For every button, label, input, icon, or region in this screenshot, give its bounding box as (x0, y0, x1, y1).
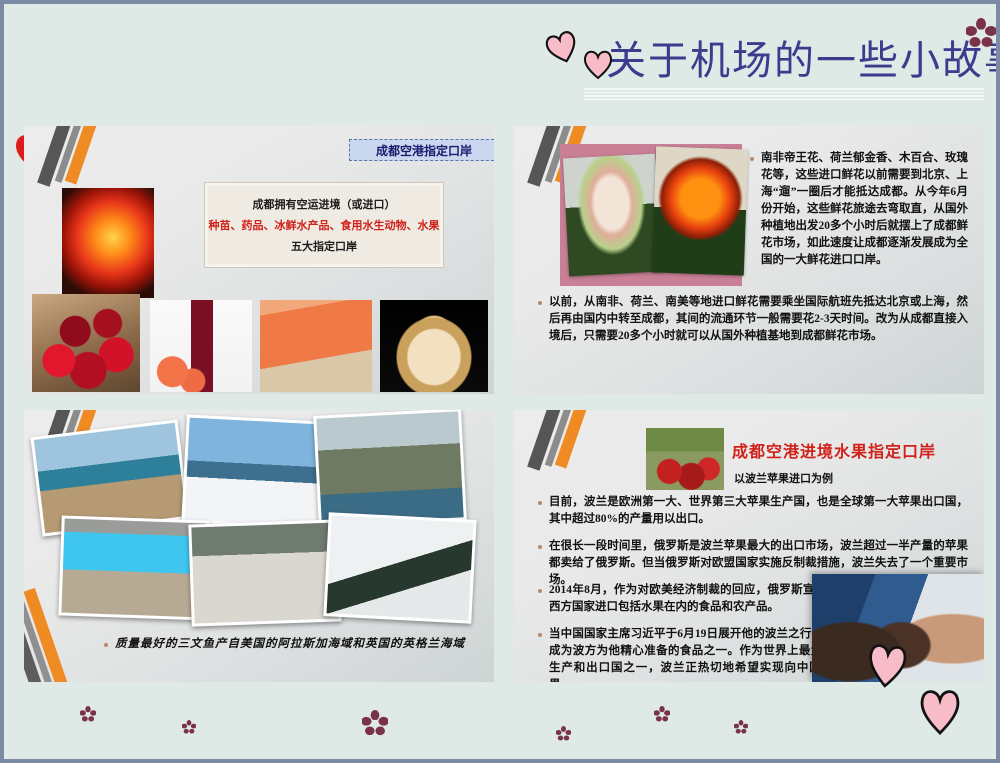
panel-salmon-origin-photos: 质量最好的三文鱼产自美国的阿拉斯加海域和英国的英格兰海域 (24, 410, 494, 682)
protea-flower-photo (563, 154, 661, 277)
bullet-text: 以前，从南非、荷兰、南美等地进口鲜花需要乘坐国际航班先抵达北京或上海，然后再由国… (549, 294, 968, 345)
bullet-dot-icon (538, 633, 542, 637)
callout-line-3: 五大指定口岸 (291, 238, 357, 254)
certificate-plaque-photo (58, 515, 209, 620)
section-heading: 成都空港进境水果指定口岸 (732, 438, 936, 462)
heart-outline-bottom-b (918, 686, 962, 736)
slide-title-block: 关于机场的一些小故事 (564, 26, 994, 106)
bullet-item: 当中国国家主席习近平于6月19日展开他的波兰之行时，苹果成为波方为他精心准备的食… (538, 626, 858, 682)
callout-line-2: 种苗、药品、冰鲜水产品、食用水生动物、水果 (209, 217, 440, 233)
bullet-dot-icon (538, 545, 542, 549)
flower-bottom-1-icon (80, 706, 96, 727)
bullet-dot-icon (538, 301, 542, 305)
bullet-item: 南非帝王花、荷兰郁金香、木百合、玫瑰花等，这些进口鲜花以前需要到北京、上海“遛”… (750, 150, 968, 269)
packed-salmon-box-photo (323, 512, 476, 624)
flower-bottom-4-icon (556, 726, 571, 746)
flower-bottom-3-icon (362, 710, 388, 741)
apple-harvest-photo (646, 428, 724, 490)
bullet-dot-icon (104, 643, 108, 647)
photo-caption: 质量最好的三文鱼产自美国的阿拉斯加海域和英国的英格兰海域 (104, 636, 494, 653)
cherries-photo (32, 294, 140, 392)
panel-fruit-designated-port: 成都空港进境水果指定口岸 以波兰苹果进口为例 目前，波兰是欧洲第一大、世界第三大… (514, 410, 984, 682)
red-dahlia-flower-photo (62, 188, 154, 298)
juice-bottle-grapefruit-photo (150, 300, 252, 392)
bullet-dot-icon (538, 501, 542, 505)
shrimp-plate-photo (380, 300, 488, 392)
iceberg-lake-photo (181, 414, 326, 529)
orange-pincushion-flower-photo (652, 146, 748, 275)
flower-bottom-2-icon (182, 720, 196, 739)
flower-top-right-icon (966, 18, 996, 48)
bullet-text: 南非帝王花、荷兰郁金香、木百合、玫瑰花等，这些进口鲜花以前需要到北京、上海“遛”… (761, 150, 968, 269)
flower-bottom-5-icon (654, 706, 670, 727)
seabirds-cliff-photo (313, 410, 467, 528)
tag-chengdu-airport-port: 成都空港指定口岸 (349, 139, 494, 161)
heart-outline-bottom-a (864, 640, 911, 690)
bullet-item: 目前，波兰是欧洲第一大、世界第三大苹果生产国，也是全球第一大苹果出口国，其中超过… (538, 494, 968, 528)
bullet-item: 以前，从南非、荷兰、南美等地进口鲜花需要乘坐国际航班先抵达北京或上海，然后再由国… (538, 294, 968, 345)
page-title: 关于机场的一些小故事 (606, 28, 1000, 86)
bullet-text: 目前，波兰是欧洲第一大、世界第三大苹果生产国，也是全球第一大苹果出口国，其中超过… (549, 494, 968, 528)
caption-text: 质量最好的三文鱼产自美国的阿拉斯加海域和英国的英格兰海域 (115, 636, 465, 653)
section-subtitle: 以波兰苹果进口为例 (734, 470, 833, 486)
callout-line-1: 成都拥有空运进境（或进口） (253, 196, 396, 212)
cold-storage-boxes-photo (188, 519, 341, 626)
panel-flower-import-story: 南非帝王花、荷兰郁金香、木百合、玫瑰花等，这些进口鲜花以前需要到北京、上海“遛”… (514, 126, 984, 394)
title-underline-rules (584, 88, 984, 102)
callout-five-designated-ports: 成都拥有空运进境（或进口） 种苗、药品、冰鲜水产品、食用水生动物、水果 五大指定… (204, 182, 444, 268)
presentation-slide: 关于机场的一些小故事 成都空港指定口岸 成都拥有空运进境（或进口） 种苗、药品、… (0, 0, 1000, 763)
heart-outline-title-right (582, 48, 614, 80)
bullet-dot-icon (538, 589, 542, 593)
flower-bottom-6-icon (734, 720, 748, 739)
bullet-dot-icon (750, 157, 754, 161)
salmon-fillet-photo (260, 300, 372, 392)
